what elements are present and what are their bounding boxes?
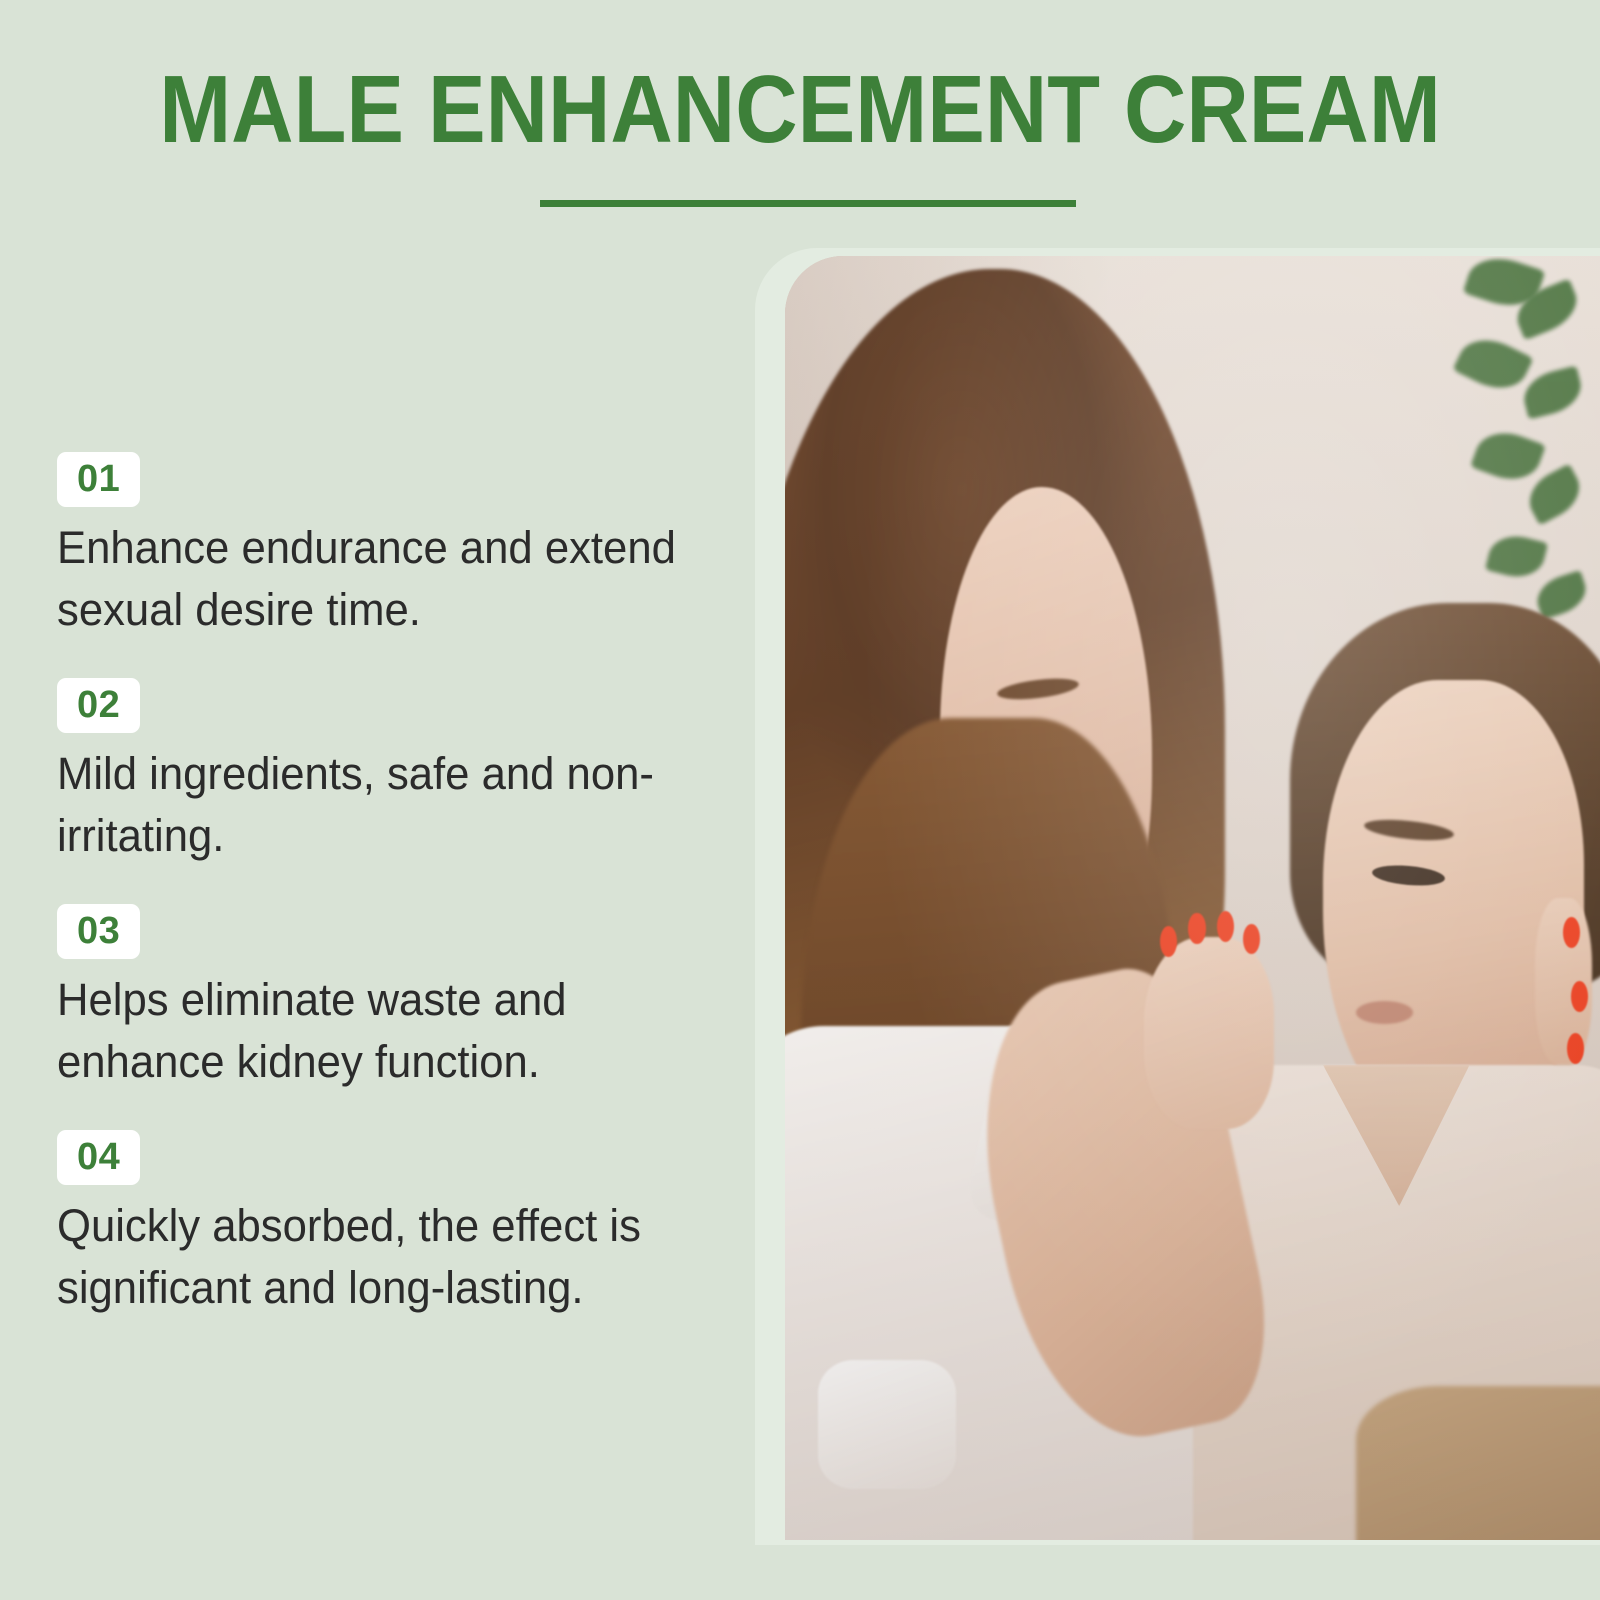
feature-description: Mild ingredients, safe and non-irritatin… (57, 743, 726, 867)
product-lifestyle-photo (785, 256, 1600, 1540)
feature-number-badge: 02 (57, 678, 140, 733)
feature-number-badge: 01 (57, 452, 140, 507)
feature-description: Helps eliminate waste and enhance kidney… (57, 969, 726, 1093)
woman-shirt-cuff (818, 1360, 957, 1488)
feature-description: Enhance endurance and extend sexual desi… (57, 517, 726, 641)
nail-polish (1567, 1033, 1584, 1064)
page-header: MALE ENHANCEMENT CREAM (0, 62, 1600, 158)
list-item: 03 Helps eliminate waste and enhance kid… (57, 904, 747, 1093)
list-item: 04 Quickly absorbed, the effect is signi… (57, 1130, 747, 1319)
nail-polish (1571, 981, 1588, 1012)
nail-polish (1188, 913, 1205, 944)
list-item: 01 Enhance endurance and extend sexual d… (57, 452, 747, 641)
page-title: MALE ENHANCEMENT CREAM (80, 62, 1520, 158)
nail-polish (1160, 926, 1177, 957)
woman-fingers-right (1535, 898, 1592, 1065)
woman-hand (1144, 937, 1274, 1130)
man-lips (1356, 1001, 1413, 1024)
list-item: 02 Mild ingredients, safe and non-irrita… (57, 678, 747, 867)
title-underline-rule (540, 200, 1076, 207)
feature-description: Quickly absorbed, the effect is signific… (57, 1195, 726, 1319)
photo-scene (785, 256, 1600, 1540)
feature-number-badge: 03 (57, 904, 140, 959)
feature-number-badge: 04 (57, 1130, 140, 1185)
feature-list: 01 Enhance endurance and extend sexual d… (57, 452, 747, 1319)
man-pants (1356, 1386, 1600, 1540)
nail-polish (1563, 917, 1580, 948)
nail-polish (1217, 911, 1234, 942)
